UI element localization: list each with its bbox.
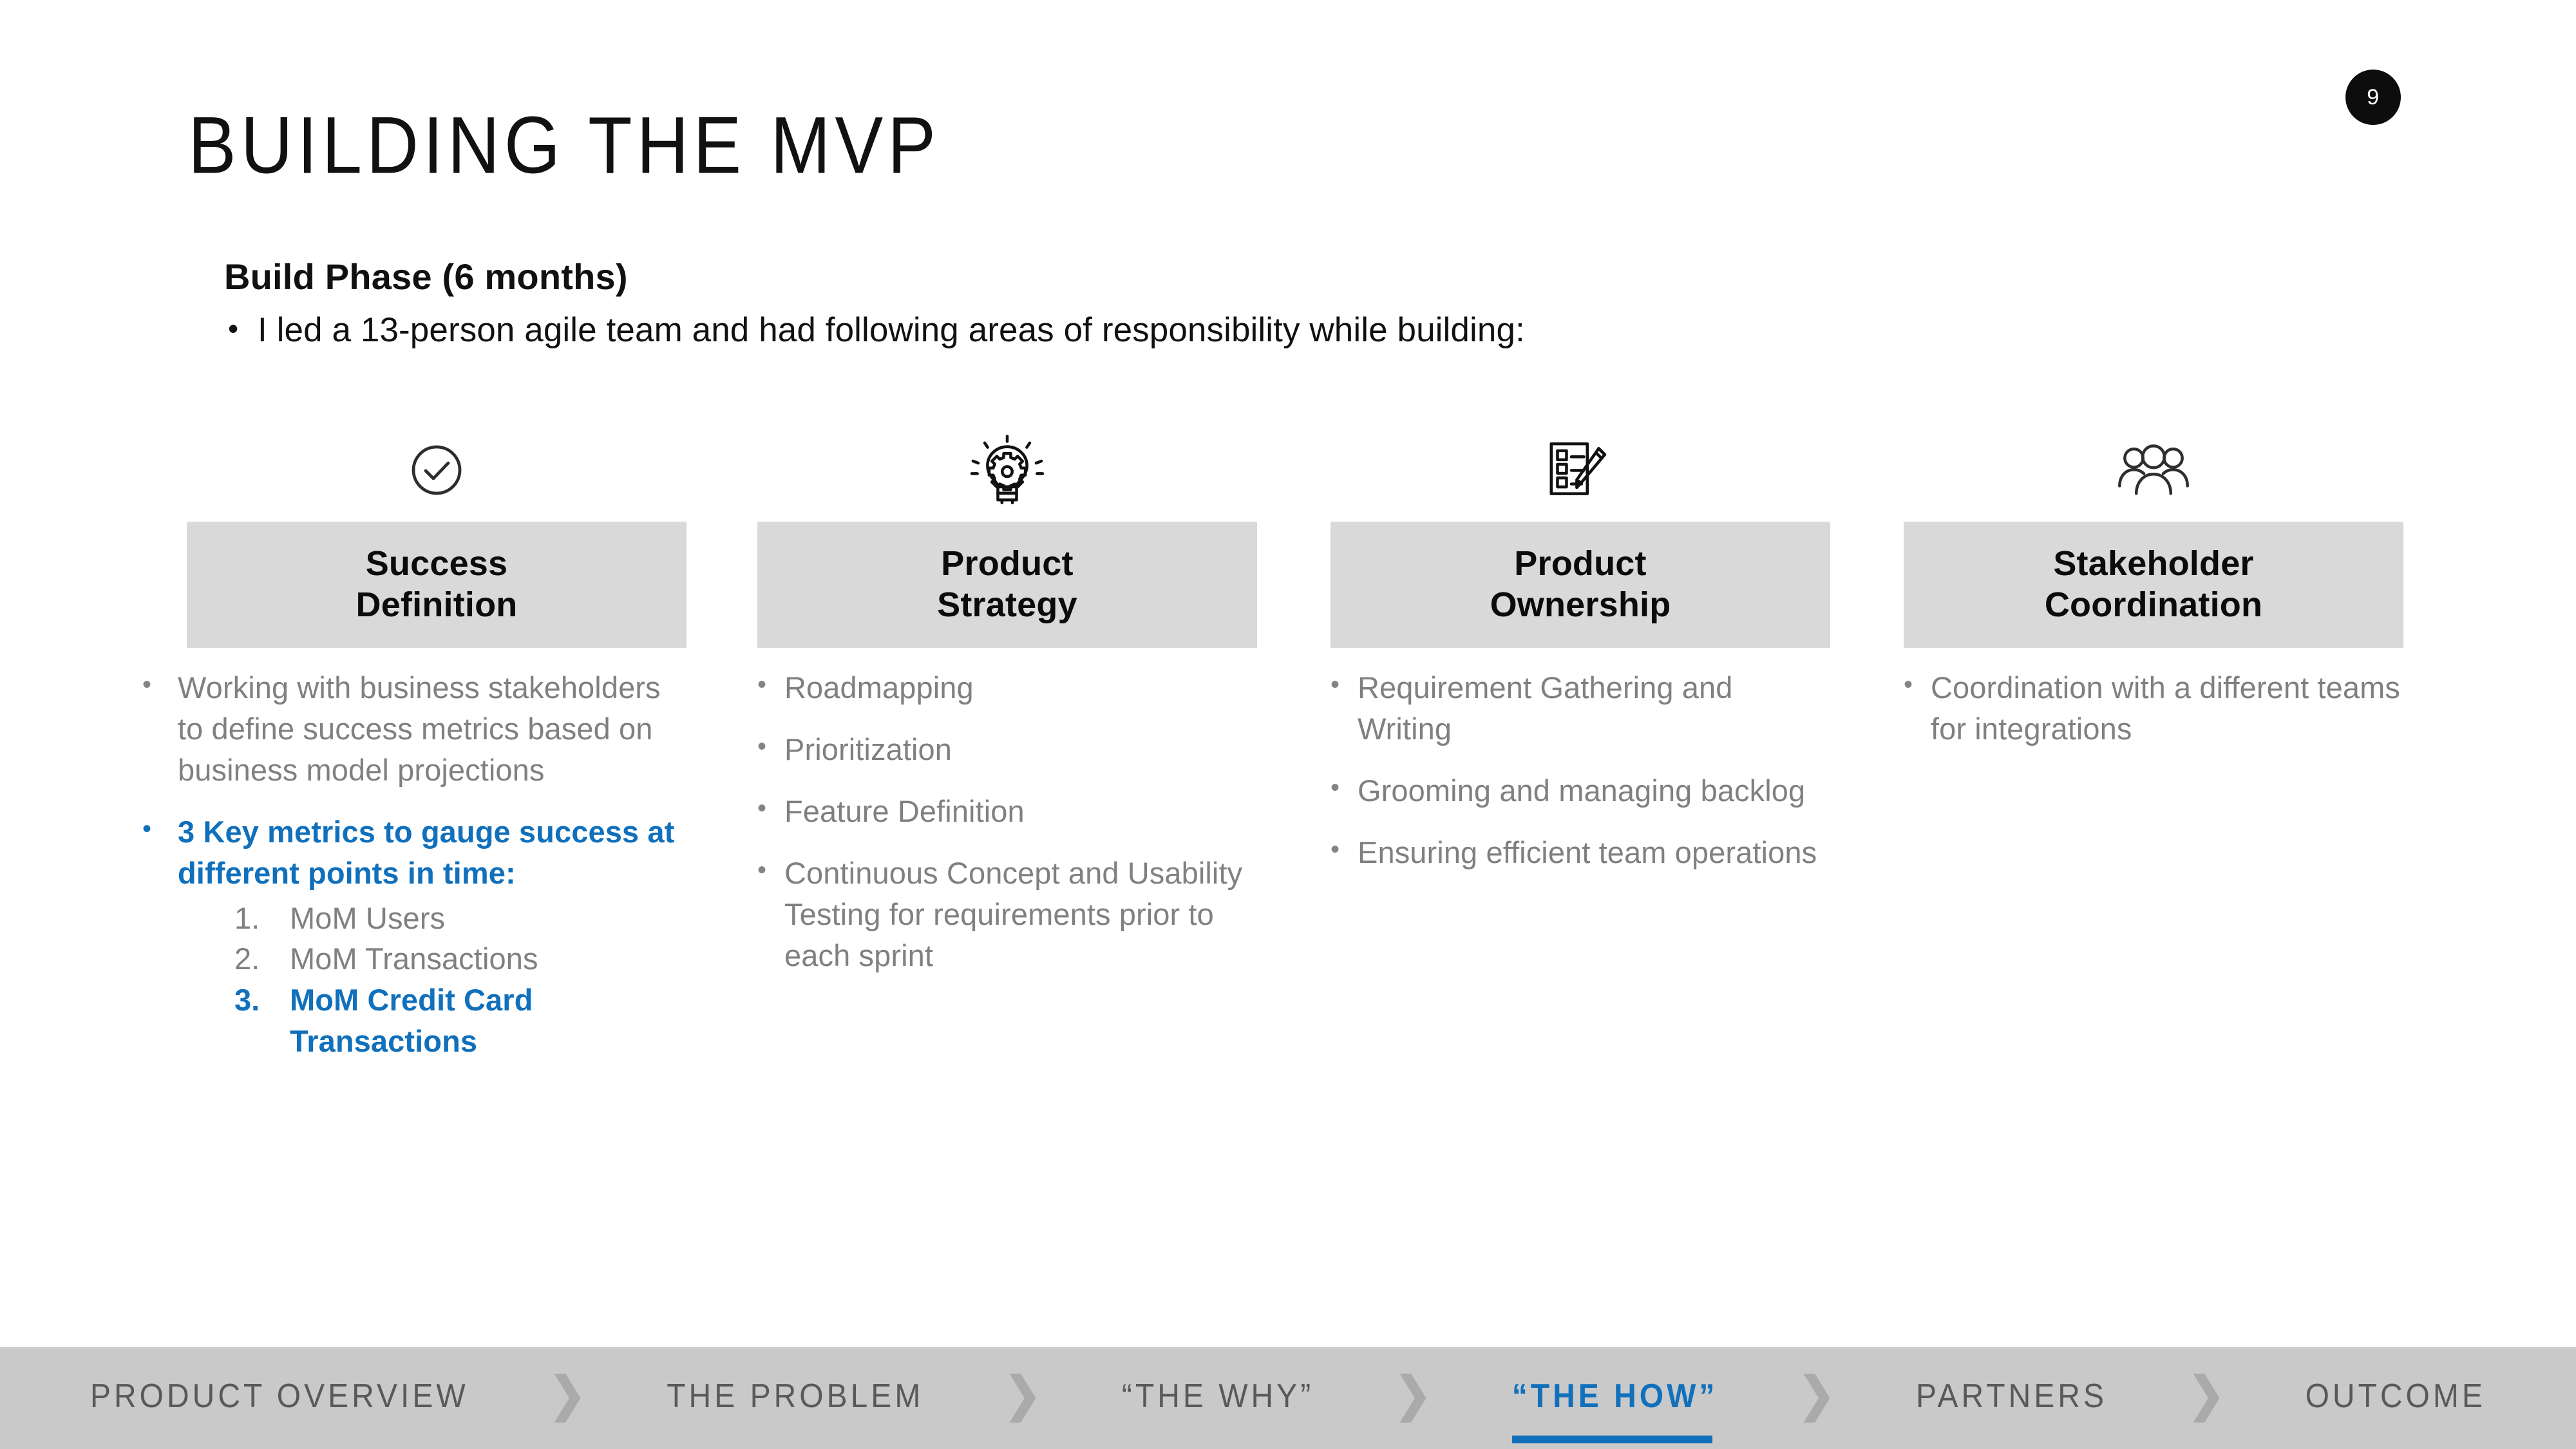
chevron-right-icon xyxy=(1005,1374,1040,1423)
chevron-right-icon xyxy=(2189,1374,2224,1423)
list-item: • Roadmapping xyxy=(757,667,1257,708)
list-item-number: 2. xyxy=(234,938,290,980)
column-title-line-1: Success xyxy=(366,544,508,585)
list-item: • Grooming and managing backlog xyxy=(1331,770,1830,811)
people-group-icon xyxy=(1904,419,2403,522)
list-item-text: Prioritization xyxy=(784,729,1257,770)
column-success-definition: Success Definition • Working with busine… xyxy=(187,419,687,1062)
list-item: • Coordination with a different teams fo… xyxy=(1904,667,2403,750)
column-title-line-1: Product xyxy=(1514,544,1646,585)
column-product-ownership: Product Ownership • Requirement Gatherin… xyxy=(1331,419,1830,894)
list-item-text: MoM Users xyxy=(290,898,445,939)
column-title-line-2: Strategy xyxy=(937,585,1077,626)
check-circle-icon xyxy=(187,419,687,522)
list-item-text: Requirement Gathering and Writing xyxy=(1358,667,1830,750)
intro-block: Build Phase (6 months) • I led a 13-pers… xyxy=(224,254,2349,353)
page-title: BUILDING THE MVP xyxy=(188,103,940,188)
column-title-line-2: Definition xyxy=(356,585,518,626)
list-item: 1. MoM Users xyxy=(234,898,687,939)
bullet-dot-icon: • xyxy=(757,729,784,764)
list-item-text: Continuous Concept and Usability Testing… xyxy=(784,853,1257,976)
bullet-dot-icon: • xyxy=(757,791,784,826)
nav-item-the-problem[interactable]: THE PROBLEM xyxy=(667,1377,923,1419)
column-body-success-definition: • Working with business stakeholders to … xyxy=(187,648,687,1062)
list-item-text: Coordination with a different teams for … xyxy=(1931,667,2403,750)
list-item: 2. MoM Transactions xyxy=(234,938,687,980)
page-number-badge: 9 xyxy=(2345,70,2401,125)
checklist-pencil-icon xyxy=(1331,419,1830,522)
nav-item-the-why[interactable]: “THE WHY” xyxy=(1122,1377,1314,1419)
list-item-number: 3. xyxy=(234,980,290,1021)
chevron-right-icon xyxy=(1396,1374,1430,1423)
nav-item-product-overview[interactable]: PRODUCT OVERVIEW xyxy=(90,1377,469,1419)
column-title-line-1: Stakeholder xyxy=(2053,544,2253,585)
column-header-product-strategy: Product Strategy xyxy=(757,522,1257,648)
list-item: • Ensuring efficient team operations xyxy=(1331,832,1830,873)
bullet-dot-icon: • xyxy=(116,667,178,702)
list-item-number: 1. xyxy=(234,898,290,939)
chevron-right-icon xyxy=(550,1374,585,1423)
column-body-stakeholder-coordination: • Coordination with a different teams fo… xyxy=(1904,648,2403,750)
column-body-product-strategy: • Roadmapping • Prioritization • Feature… xyxy=(757,648,1257,976)
lightbulb-gear-icon xyxy=(757,419,1257,522)
bullet-dot-icon: • xyxy=(116,811,178,846)
intro-heading: Build Phase (6 months) xyxy=(224,254,2349,299)
list-item: • 3 Key metrics to gauge success at diff… xyxy=(116,811,687,894)
column-title-line-2: Ownership xyxy=(1490,585,1671,626)
bullet-dot-icon: • xyxy=(1331,667,1358,702)
list-item: • Feature Definition xyxy=(757,791,1257,832)
column-header-success-definition: Success Definition xyxy=(187,522,687,648)
list-item-text: MoM Credit Card Transactions xyxy=(290,980,687,1062)
column-body-product-ownership: • Requirement Gathering and Writing • Gr… xyxy=(1331,648,1830,873)
column-product-strategy: Product Strategy • Roadmapping • Priorit… xyxy=(757,419,1257,996)
list-item: 3. MoM Credit Card Transactions xyxy=(234,980,687,1062)
bullet-dot-icon: • xyxy=(1904,667,1931,702)
column-header-stakeholder-coordination: Stakeholder Coordination xyxy=(1904,522,2403,648)
bullet-dot-icon: • xyxy=(224,308,258,348)
list-item-text: Working with business stakeholders to de… xyxy=(178,667,687,791)
intro-bullet: • I led a 13-person agile team and had f… xyxy=(224,308,2349,353)
bullet-dot-icon: • xyxy=(757,853,784,887)
column-title-line-2: Coordination xyxy=(2045,585,2262,626)
bullet-dot-icon: • xyxy=(757,667,784,702)
column-title-line-1: Product xyxy=(941,544,1073,585)
list-item-text: Roadmapping xyxy=(784,667,1257,708)
list-item-text: Grooming and managing backlog xyxy=(1358,770,1830,811)
nav-item-the-how[interactable]: “THE HOW” xyxy=(1512,1377,1718,1419)
intro-bullet-text: I led a 13-person agile team and had fol… xyxy=(258,308,1525,353)
list-item-text: 3 Key metrics to gauge success at differ… xyxy=(178,811,687,894)
bullet-dot-icon: • xyxy=(1331,832,1358,867)
list-item-text: Ensuring efficient team operations xyxy=(1358,832,1830,873)
list-item-text: MoM Transactions xyxy=(290,938,538,980)
column-stakeholder-coordination: Stakeholder Coordination • Coordination … xyxy=(1904,419,2403,770)
column-header-product-ownership: Product Ownership xyxy=(1331,522,1830,648)
list-item: • Working with business stakeholders to … xyxy=(116,667,687,791)
list-item: • Requirement Gathering and Writing xyxy=(1331,667,1830,750)
list-item-text: Feature Definition xyxy=(784,791,1257,832)
chevron-right-icon xyxy=(1799,1374,1834,1423)
bottom-nav-bar: PRODUCT OVERVIEW THE PROBLEM “THE WHY” “… xyxy=(0,1347,2576,1449)
numbered-metrics-list: 1. MoM Users 2. MoM Transactions 3. MoM … xyxy=(234,898,687,1063)
nav-item-partners[interactable]: PARTNERS xyxy=(1916,1377,2107,1419)
list-item: • Prioritization xyxy=(757,729,1257,770)
nav-item-outcome[interactable]: OUTCOME xyxy=(2306,1377,2486,1419)
responsibility-columns: Success Definition • Working with busine… xyxy=(0,419,2576,1320)
list-item: • Continuous Concept and Usability Testi… xyxy=(757,853,1257,976)
bullet-dot-icon: • xyxy=(1331,770,1358,805)
